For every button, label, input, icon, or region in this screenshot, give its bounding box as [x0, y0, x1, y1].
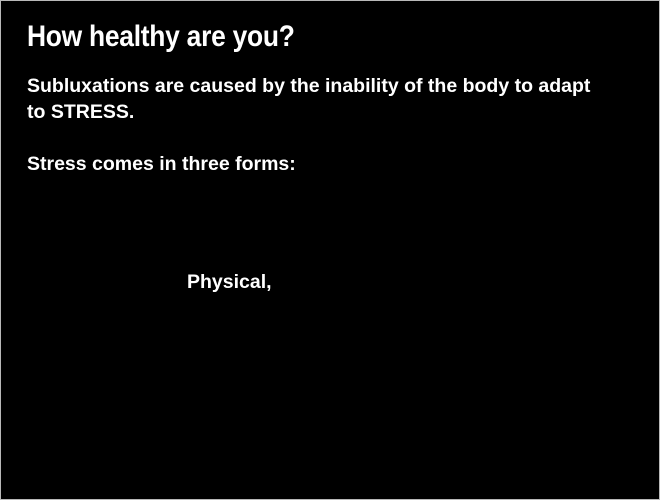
slide-body: Subluxations are caused by the inability… [27, 73, 597, 177]
slide-canvas: How healthy are you? Subluxations are ca… [1, 1, 659, 499]
slide-empty-area [27, 311, 627, 481]
body-paragraph-2: Stress comes in three forms: [27, 151, 597, 177]
slide-container: How healthy are you? Subluxations are ca… [0, 0, 660, 500]
sub-item-physical: Physical, [187, 269, 272, 295]
body-spacer [27, 125, 597, 151]
body-paragraph-1: Subluxations are caused by the inability… [27, 73, 597, 125]
page-title: How healthy are you? [27, 20, 555, 54]
